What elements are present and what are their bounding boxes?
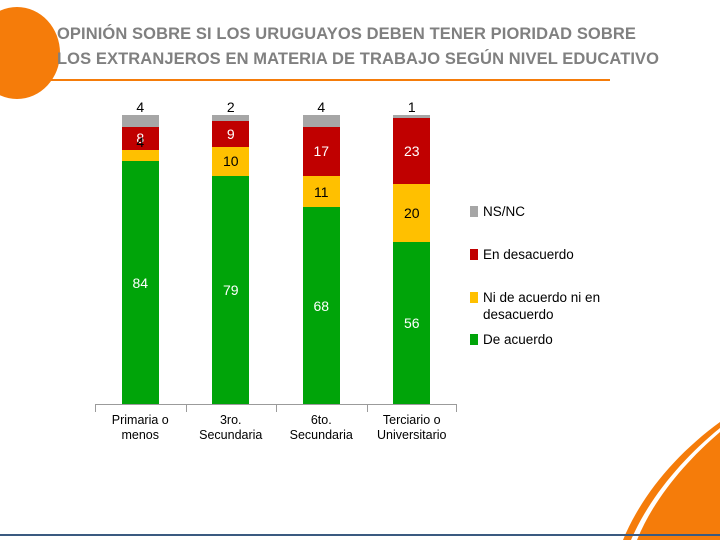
x-axis-category-label-line: Universitario [367,428,458,443]
chart-legend: NS/NCEn desacuerdoNi de acuerdo ni endes… [470,203,650,374]
bar-segment-value-label: 68 [313,299,329,313]
legend-item-label-line: desacuerdo [483,306,600,323]
bar-segment-value-label: 1 [408,100,416,114]
footer-rule [0,534,720,536]
bar-segment[interactable]: 84 [122,161,159,404]
legend-item-label: Ni de acuerdo ni endesacuerdo [483,289,600,323]
x-axis-category-label-line: Secundaria [276,428,367,443]
stacked-bar[interactable]: 4171168 [303,115,340,404]
bar-segment-value-label: 2 [227,100,235,114]
bar-segment-value-label: 84 [132,276,148,290]
x-axis-category-label: 3ro.Secundaria [186,413,277,443]
bar-segment-value-label: 23 [404,144,420,158]
title-underline [40,79,610,81]
bar-segment-value-label: 79 [223,283,239,297]
legend-item[interactable]: De acuerdo [470,331,650,348]
bar-segment[interactable]: 9 [212,121,249,147]
decorative-orange-circle [0,7,60,99]
x-axis-category-label-line: Secundaria [186,428,277,443]
x-axis-category-label: Primaria omenos [95,413,186,443]
stacked-bar[interactable]: 1232056 [393,115,430,404]
bar-segment-value-label: 4 [136,135,144,149]
page-title-line-1: OPINIÓN SOBRE SI LOS URUGUAYOS DEBEN TEN… [57,22,657,47]
bar-segment[interactable]: 56 [393,242,430,404]
page-title: OPINIÓN SOBRE SI LOS URUGUAYOS DEBEN TEN… [57,22,657,72]
bar-group: 291079 [186,115,277,404]
bar-segment-value-label: 4 [317,100,325,114]
bar-group: 48484 [95,115,186,404]
x-axis-tick [95,405,96,412]
page-title-line-2: LOS EXTRANJEROS EN MATERIA DE TRABAJO SE… [57,47,657,72]
bar-segment[interactable]: 4 [122,150,159,162]
bar-segment-value-label: 17 [313,144,329,158]
bar-segment[interactable]: 17 [303,127,340,176]
bar-segment[interactable]: 4 [303,115,340,127]
bar-group: 1232056 [367,115,458,404]
bar-segment-value-label: 56 [404,316,420,330]
legend-swatch-icon [470,334,478,345]
bar-segment-value-label: 20 [404,206,420,220]
x-axis-category-labels: Primaria omenos3ro.Secundaria6to.Secunda… [95,413,457,457]
stacked-bar[interactable]: 291079 [212,115,249,404]
bar-segment-value-label: 11 [314,185,329,199]
slide-canvas: OPINIÓN SOBRE SI LOS URUGUAYOS DEBEN TEN… [0,0,720,540]
x-axis-category-label-line: menos [95,428,186,443]
bar-segment[interactable]: 20 [393,184,430,242]
bar-segment[interactable]: 23 [393,118,430,184]
chart-plot-area: 4848429107941711681232056 [95,115,457,405]
bar-segment[interactable]: 10 [212,147,249,176]
x-axis-category-label: 6to.Secundaria [276,413,367,443]
legend-item-label: En desacuerdo [483,246,574,263]
bar-segment[interactable]: 11 [303,176,340,208]
legend-item[interactable]: En desacuerdo [470,246,650,263]
x-axis-category-label-line: Primaria o [95,413,186,428]
x-axis-category-label-line: 3ro. [186,413,277,428]
x-axis-category-label-line: Terciario o [367,413,458,428]
legend-item[interactable]: Ni de acuerdo ni endesacuerdo [470,289,650,323]
legend-swatch-icon [470,249,478,260]
legend-item-label-line: Ni de acuerdo ni en [483,289,600,306]
x-axis-tick [456,405,457,412]
bar-segment[interactable]: 68 [303,207,340,404]
bar-segment-value-label: 9 [227,127,235,141]
bar-segment-value-label: 4 [136,100,144,114]
x-axis-category-label-line: 6to. [276,413,367,428]
x-axis-category-label: Terciario oUniversitario [367,413,458,443]
legend-item-label: De acuerdo [483,331,553,348]
legend-item[interactable]: NS/NC [470,203,650,220]
x-axis-tick [276,405,277,412]
bar-segment[interactable]: 79 [212,176,249,404]
legend-swatch-icon [470,206,478,217]
stacked-bar[interactable]: 48484 [122,115,159,404]
decorative-orange-swoosh [545,420,720,540]
bar-group: 4171168 [276,115,367,404]
bar-segment[interactable]: 4 [122,115,159,127]
legend-swatch-icon [470,292,478,303]
x-axis-tick [367,405,368,412]
x-axis-tick [186,405,187,412]
bar-segment-value-label: 10 [223,154,239,168]
legend-item-label: NS/NC [483,203,525,220]
